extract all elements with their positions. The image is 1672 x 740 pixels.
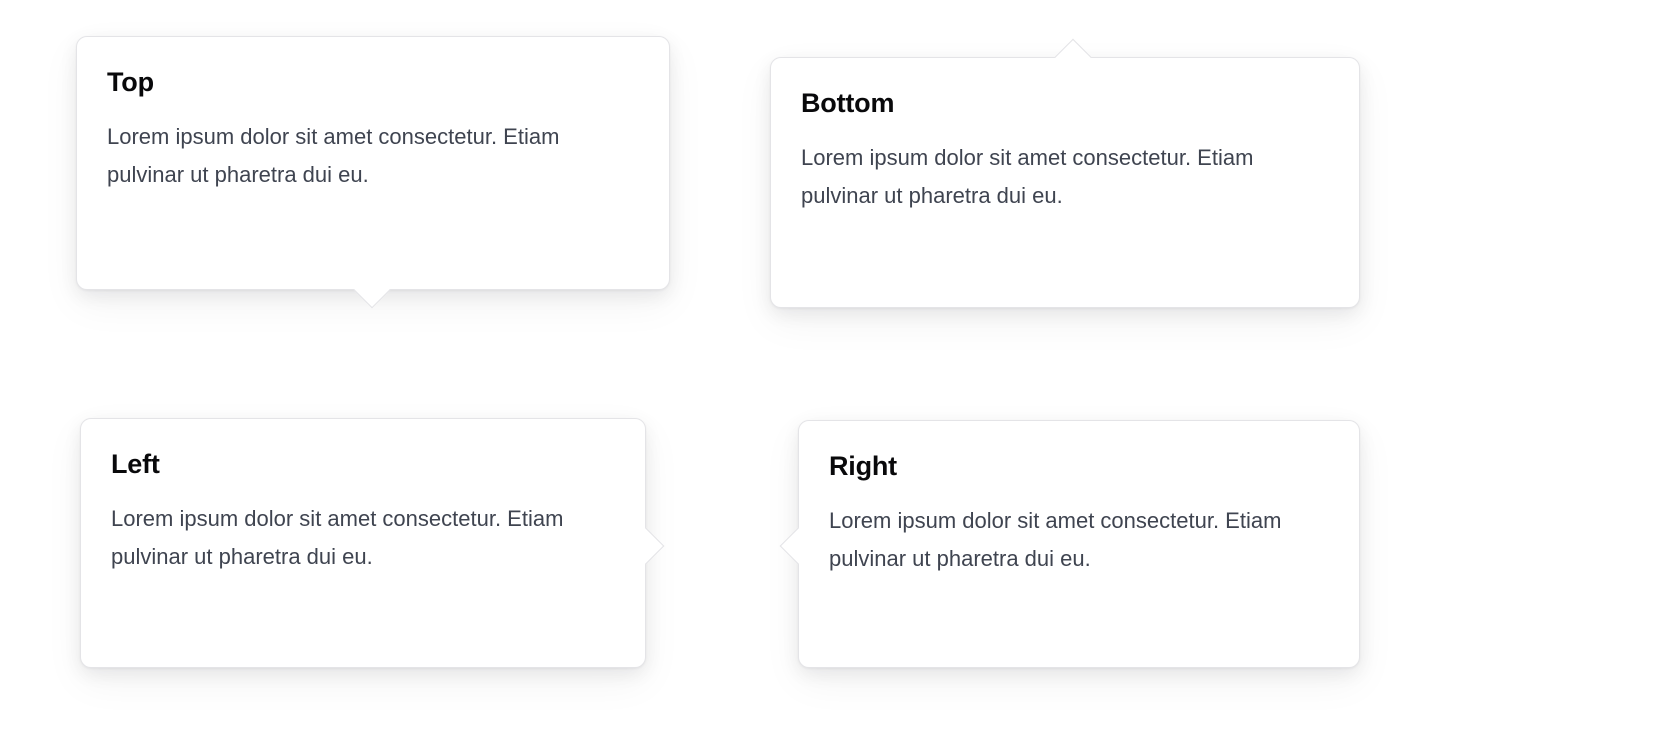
popover-left[interactable]: Left Lorem ipsum dolor sit amet consecte… (80, 418, 646, 668)
arrow-down-icon (354, 272, 391, 309)
popover-right-body: Lorem ipsum dolor sit amet consectetur. … (829, 502, 1327, 578)
popover-bottom[interactable]: Bottom Lorem ipsum dolor sit amet consec… (770, 57, 1360, 308)
popover-right[interactable]: Right Lorem ipsum dolor sit amet consect… (798, 420, 1360, 668)
arrow-right-icon (628, 528, 665, 565)
arrow-seam-mask (799, 523, 802, 569)
arrow-seam-mask (349, 286, 395, 289)
arrow-seam-mask (642, 523, 645, 569)
popover-top-title: Top (107, 67, 637, 98)
arrow-left-icon (780, 528, 817, 565)
popover-top-body: Lorem ipsum dolor sit amet consectetur. … (107, 118, 637, 194)
arrow-seam-mask (1050, 58, 1096, 61)
popover-bottom-body: Lorem ipsum dolor sit amet consectetur. … (801, 139, 1327, 215)
popover-left-body: Lorem ipsum dolor sit amet consectetur. … (111, 500, 613, 576)
popover-top[interactable]: Top Lorem ipsum dolor sit amet consectet… (76, 36, 670, 290)
popover-right-title: Right (829, 451, 1327, 482)
popover-bottom-title: Bottom (801, 88, 1327, 119)
arrow-up-icon (1055, 39, 1092, 76)
popover-showcase: Top Lorem ipsum dolor sit amet consectet… (0, 0, 1672, 740)
popover-left-title: Left (111, 449, 613, 480)
